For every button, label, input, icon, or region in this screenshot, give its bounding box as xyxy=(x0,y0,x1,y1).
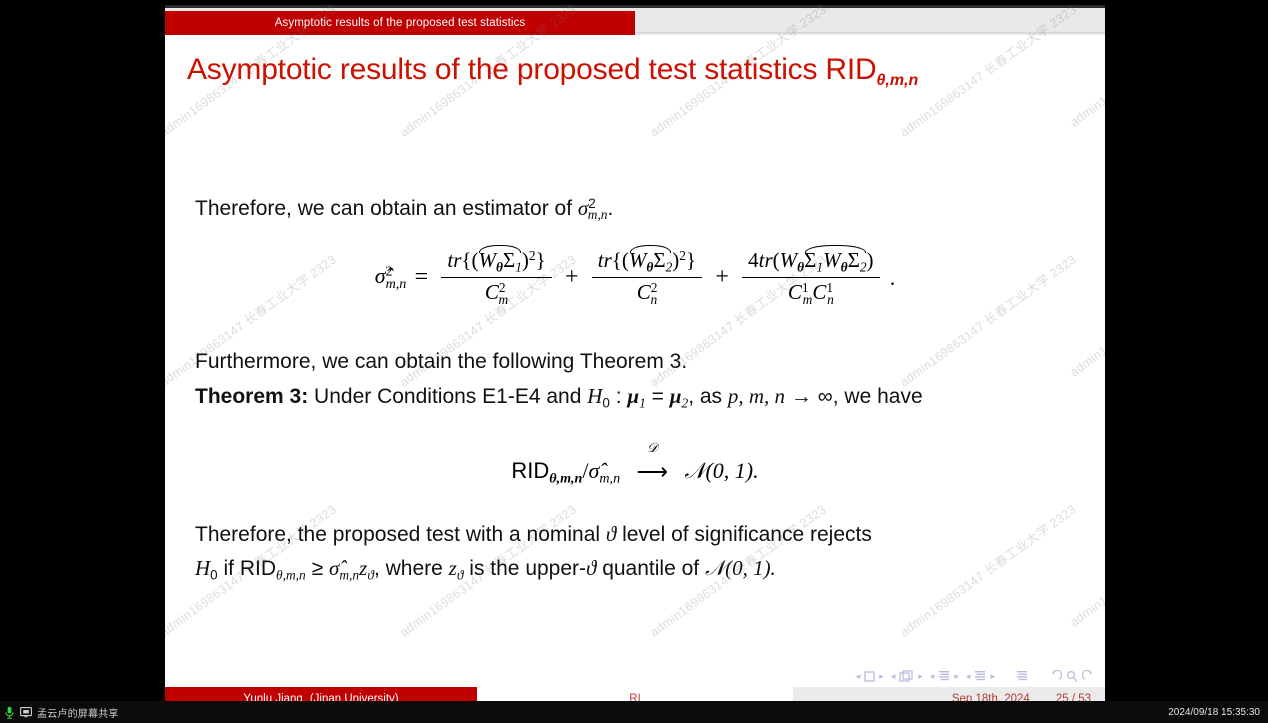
eq1-term3-denominator: C1mC1n xyxy=(742,278,879,307)
slide-title-subscript: θ,m,n xyxy=(876,72,918,89)
eq1-term-1: tr{(WθΣ1)2} C2m xyxy=(441,248,551,308)
p4-sigma-hat: σ̂ xyxy=(329,556,339,580)
paragraph-estimator: Therefore, we can obtain an estimator of… xyxy=(195,187,613,232)
eq1-equals: = xyxy=(412,264,432,291)
nav-group-section[interactable]: ◂ ▸ xyxy=(966,670,995,682)
slide-title-text: Asymptotic results of the proposed test … xyxy=(187,53,876,86)
taskbar-clock: 2024/09/18 15:35:30 xyxy=(1168,707,1268,718)
eq2-arrow-label: 𝒟 xyxy=(630,440,674,456)
eq1-sigma-sub: m,n xyxy=(386,276,407,292)
frame-next-icon[interactable]: ▸ xyxy=(918,671,923,682)
subsection-prev-icon[interactable]: ◂ xyxy=(930,671,935,682)
paragraph-3-text-b: level of significance rejects xyxy=(622,523,872,546)
eq1-term-3: 4tr(WθΣ1WθΣ2) C1mC1n xyxy=(742,248,879,308)
equation-sigma-hat: σ̂2m,n = tr{(WθΣ1)2} C2m + tr{(WθΣ2)2} C… xyxy=(165,248,1105,308)
paragraph-1-text: Therefore, we can obtain an estimator of xyxy=(195,197,572,220)
theorem-text-a: Under Conditions E1-E4 and xyxy=(314,385,581,408)
frame-prev-icon[interactable]: ◂ xyxy=(891,671,896,682)
os-taskbar: 孟云卢的屏幕共享 2024/09/18 15:35:30 xyxy=(0,701,1268,723)
eq2-sigma-sub: m,n xyxy=(599,471,620,487)
theorem-infinity: ∞, xyxy=(818,385,839,408)
eq1-period: . xyxy=(890,265,896,291)
toc-icon[interactable] xyxy=(1016,670,1028,682)
presentation-slide: Asymptotic results of the proposed test … xyxy=(165,5,1105,711)
theorem-mu2: μ xyxy=(670,384,682,408)
theorem-mu1: μ xyxy=(627,384,639,408)
eq2-rid-sub: θ,m,n xyxy=(549,471,582,487)
equation-convergence: RIDθ,m,n/σ̂m,n 𝒟 ⟶ 𝒩(0, 1). xyxy=(165,458,1105,488)
nav-group-frame[interactable]: ◂ ▸ xyxy=(891,670,923,682)
p4-h0-sub: 0 xyxy=(210,567,217,582)
p4-where: , where xyxy=(374,557,443,580)
shared-screen: Asymptotic results of the proposed test … xyxy=(0,0,1268,723)
p4-geq: ≥ xyxy=(312,557,324,580)
theorem-colon: : xyxy=(616,385,622,408)
theorem-pmn: p, m, n xyxy=(728,384,785,408)
section-next-icon[interactable]: ▸ xyxy=(990,671,995,682)
section-prev-icon[interactable]: ◂ xyxy=(966,671,971,682)
screen-share-label: 孟云卢的屏幕共享 xyxy=(37,705,119,720)
frame-box-icon[interactable] xyxy=(899,670,914,682)
eq1-term1-denominator: C2m xyxy=(441,278,551,307)
slide-header-bar: Asymptotic results of the proposed test … xyxy=(165,5,1105,32)
p4-rid: RID xyxy=(240,557,276,580)
nav-group-toc[interactable] xyxy=(1016,670,1028,682)
theorem-h0: H xyxy=(587,384,602,408)
theorem-text-b: , as xyxy=(688,385,722,408)
p4-rid-sub: θ,m,n xyxy=(276,567,306,582)
equation-lhs: σ̂2m,n xyxy=(375,263,407,293)
p4-sigma-sub: m,n xyxy=(339,567,359,582)
theorem-mu1-sub: 1 xyxy=(639,395,646,410)
beamer-navigation-symbols[interactable]: ◂ ▸ ◂ ▸ ◂ ▸ ◂ xyxy=(750,665,1095,687)
paragraph-3-text-a: Therefore, the proposed test with a nomi… xyxy=(195,523,600,546)
eq1-sigma-hat: σ̂ xyxy=(375,263,386,288)
p4-vartheta: ϑ xyxy=(586,556,596,580)
p4-z-sub: ϑ xyxy=(367,567,374,582)
section-lines-icon[interactable] xyxy=(974,670,986,682)
slide-box-icon[interactable] xyxy=(864,671,875,682)
p4-if: if xyxy=(224,557,235,580)
eq1-term-2: tr{(WθΣ2)2} C2n xyxy=(592,248,702,308)
p4-is-upper: is the upper- xyxy=(469,557,586,580)
theorem-arrow: → xyxy=(791,385,812,408)
nav-group-subsection[interactable]: ◂ ▸ xyxy=(930,670,959,682)
nav-group-history[interactable] xyxy=(1049,670,1095,683)
screen-share-icon[interactable] xyxy=(20,707,32,718)
slide-title: Asymptotic results of the proposed test … xyxy=(187,53,1087,90)
nav-group-slide[interactable]: ◂ ▸ xyxy=(856,671,884,682)
theorem-label: Theorem 3: xyxy=(195,385,308,408)
paragraph-nominal-level: Therefore, the proposed test with a nomi… xyxy=(195,517,872,552)
sigma-symbol: σ xyxy=(578,196,588,220)
subsection-next-icon[interactable]: ▸ xyxy=(954,671,959,682)
eq2-convergence-arrow: 𝒟 ⟶ xyxy=(630,459,674,485)
slide-prev-icon[interactable]: ◂ xyxy=(856,671,861,682)
p4-normal-dist: 𝒩(0, 1). xyxy=(705,556,776,580)
eq2-sigma-hat: σ̂ xyxy=(589,458,600,483)
subsection-lines-icon[interactable] xyxy=(938,670,950,682)
eq2-normal-dist: 𝒩(0, 1). xyxy=(684,458,758,483)
sigma-subscript: m,n xyxy=(588,207,608,222)
eq2-arrow-glyph: ⟶ xyxy=(636,459,668,484)
paragraph-furthermore: Furthermore, we can obtain the following… xyxy=(195,345,687,379)
forward-arrow-icon[interactable] xyxy=(1082,670,1095,683)
paragraph-1-period: . xyxy=(608,197,614,220)
p4-z2-sub: ϑ xyxy=(457,567,464,582)
eq1-term1-numerator: tr{(WθΣ1)2} xyxy=(441,248,551,278)
eq1-plus-2: + xyxy=(712,264,732,291)
eq2-rid: RID xyxy=(511,458,549,483)
back-arrow-icon[interactable] xyxy=(1049,670,1062,683)
header-shadow xyxy=(165,32,1105,34)
theorem-h0-sub: 0 xyxy=(602,395,609,410)
paragraph-rejection-rule: H0 if RIDθ,m,n ≥ σ̂m,nzϑ, where zϑ is th… xyxy=(195,551,776,592)
p4-quantile: quantile of xyxy=(602,557,699,580)
slide-body: Therefore, we can obtain an estimator of… xyxy=(165,105,1105,665)
taskbar-left-group: 孟云卢的屏幕共享 xyxy=(0,705,119,720)
theorem-3: Theorem 3: Under Conditions E1-E4 and H0… xyxy=(195,379,1075,420)
theorem-wehave: we have xyxy=(844,385,922,408)
vartheta-symbol: ϑ xyxy=(606,522,616,546)
slide-next-icon[interactable]: ▸ xyxy=(879,671,884,682)
search-icon[interactable] xyxy=(1066,670,1078,683)
eq1-term2-numerator: tr{(WθΣ2)2} xyxy=(592,248,702,278)
p4-h0: H xyxy=(195,556,210,580)
eq1-term3-numerator: 4tr(WθΣ1WθΣ2) xyxy=(742,248,879,278)
theorem-equals: = xyxy=(652,385,664,408)
eq1-plus-1: + xyxy=(562,264,582,291)
p4-z2: z xyxy=(449,556,457,580)
microphone-icon[interactable] xyxy=(4,706,15,719)
eq1-term2-denominator: C2n xyxy=(592,278,702,307)
